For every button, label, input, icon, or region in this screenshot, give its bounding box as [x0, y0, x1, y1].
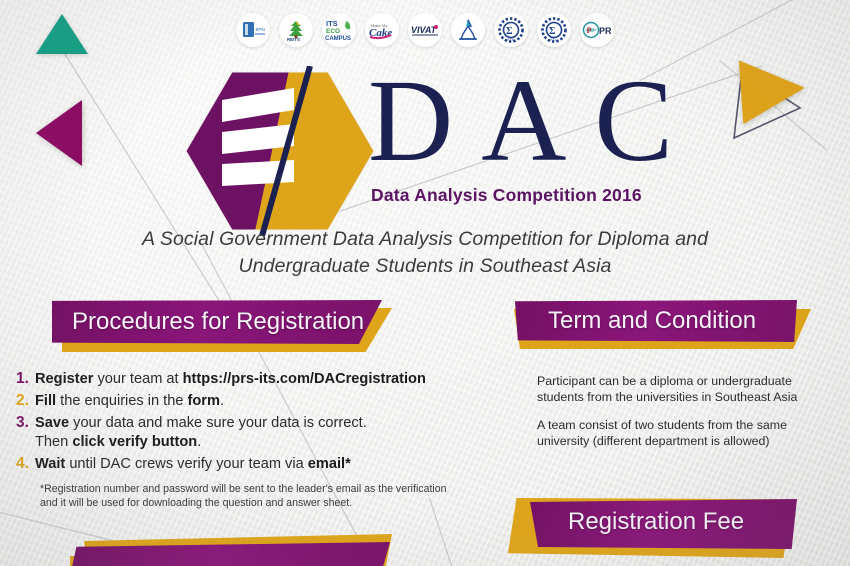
svg-text:P: P [587, 26, 592, 35]
procedures-list: 1. Register your team at https://prs-its… [16, 370, 486, 477]
bottom-banner-partial [70, 534, 400, 566]
list-item-number: 3. [16, 414, 35, 432]
list-item-text: Wait until DAC crews verify your team vi… [35, 455, 351, 474]
svg-text:PRS: PRS [599, 26, 612, 36]
svg-text:FTI: FTI [551, 38, 556, 42]
list-item-number: 4. [16, 455, 35, 473]
procedures-footnote: *Registration number and password will b… [40, 483, 460, 510]
cake-logo: Make My Cake [365, 13, 399, 47]
registration-fee-heading: Registration Fee [568, 510, 744, 534]
svg-text:CAMPUS: CAMPUS [325, 36, 351, 42]
procedures-banner: Procedures for Registration [52, 300, 402, 356]
registration-fee-banner: Registration Fee [508, 496, 808, 562]
poster-tagline: A Social Government Data Analysis Compet… [120, 226, 730, 280]
procedures-heading: Procedures for Registration [72, 310, 364, 334]
bullet-marker-gold-icon [509, 373, 537, 375]
dac-hex-logo [182, 66, 378, 236]
dac-subtitle: Data Analysis Competition 2016 [371, 185, 642, 206]
its-tower-logo [451, 13, 485, 47]
poster-canvas: BPN REITS ITS ECO CAMPUS Make My Ca [0, 0, 850, 566]
prs-logo: P PRS [580, 13, 614, 47]
list-item-text: A team consist of two students from the … [537, 417, 839, 449]
list-item: A team consist of two students from the … [509, 417, 839, 449]
list-item-text: Participant can be a diploma or undergra… [537, 373, 839, 405]
list-item: 3. Save your data and make sure your dat… [16, 414, 486, 452]
list-item: 4. Wait until DAC crews verify your team… [16, 455, 486, 474]
list-item-text: Fill the enquiries in the form. [35, 392, 224, 411]
list-item-text: Register your team at https://prs-its.co… [35, 370, 426, 389]
hmtf-ftk-logo: Σ FTK [494, 13, 528, 47]
terms-banner: Term and Condition [508, 300, 818, 356]
svg-text:REITS: REITS [287, 37, 300, 42]
list-item-text: Save your data and make sure your data i… [35, 414, 367, 452]
svg-text:Σ: Σ [549, 26, 556, 37]
svg-text:FTK: FTK [508, 38, 515, 42]
list-item-number: 2. [16, 392, 35, 410]
sponsor-logo-strip: BPN REITS ITS ECO CAMPUS Make My Ca [236, 13, 614, 47]
bappenas-logo: BPN [236, 13, 270, 47]
svg-text:ITS: ITS [326, 19, 338, 28]
vivat-logo: VIVAT [408, 13, 442, 47]
list-item: Participant can be a diploma or undergra… [509, 373, 839, 405]
decor-triangle-gold [739, 56, 807, 124]
svg-text:Σ: Σ [506, 26, 513, 37]
list-item-number: 1. [16, 370, 35, 388]
terms-list: Participant can be a diploma or undergra… [509, 373, 839, 461]
hms-fth-logo: Σ FTI [537, 13, 571, 47]
svg-text:BPN: BPN [256, 27, 265, 32]
decor-triangle-purple [36, 100, 82, 166]
terms-heading: Term and Condition [548, 309, 756, 333]
svg-text:ECO: ECO [326, 28, 340, 35]
reits-logo: REITS [279, 13, 313, 47]
list-item: 2. Fill the enquiries in the form. [16, 392, 486, 411]
list-item: 1. Register your team at https://prs-its… [16, 370, 486, 389]
its-eco-campus-logo: ITS ECO CAMPUS [322, 13, 356, 47]
bullet-marker-purple-icon [509, 417, 537, 419]
dac-wordmark: DAC [368, 62, 701, 180]
svg-text:VIVAT: VIVAT [411, 25, 438, 35]
decor-triangle-teal [36, 14, 88, 54]
